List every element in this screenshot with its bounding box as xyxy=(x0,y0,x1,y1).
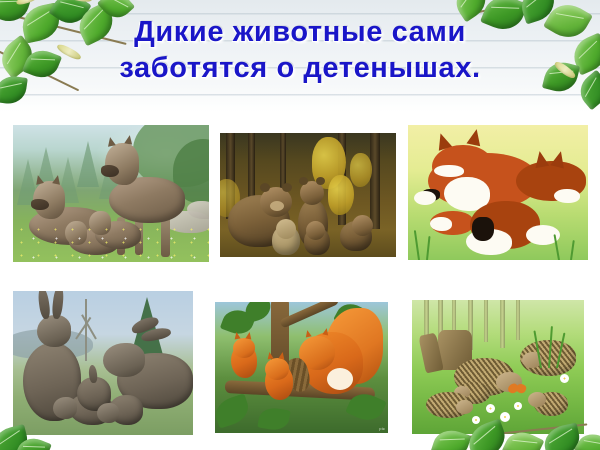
squirrel-ear xyxy=(278,352,285,360)
meadow-flowers xyxy=(13,223,209,262)
wolf-snout xyxy=(101,165,119,177)
tree-trunk xyxy=(516,300,520,340)
photo-content xyxy=(220,133,396,257)
squirrel-ear xyxy=(266,352,273,360)
fox-snout-white xyxy=(434,165,464,177)
squirrel-head xyxy=(233,338,255,358)
foliage-leaf xyxy=(257,406,290,433)
daisy-flower xyxy=(500,412,510,422)
wolf-ear xyxy=(106,136,116,146)
fox-paw xyxy=(472,217,494,241)
hare-head xyxy=(37,315,71,347)
birch-leaf-icon xyxy=(14,433,52,450)
grass-blade xyxy=(414,230,420,260)
photo-content: pic xyxy=(215,302,388,433)
header-background-band xyxy=(0,0,600,112)
photo-content xyxy=(13,125,209,262)
squirrel-ear xyxy=(304,329,311,337)
wolf-ear xyxy=(124,134,133,144)
fox-ear xyxy=(533,150,550,168)
bear-family-photo[interactable] xyxy=(220,133,396,257)
fox-cub-white xyxy=(430,217,452,231)
bear-muzzle xyxy=(270,201,284,211)
slide-canvas: Дикие животные сами заботятся о детеныша… xyxy=(0,0,600,450)
fox-cub xyxy=(554,189,580,203)
squirrel-head xyxy=(265,358,289,380)
conifer-tree xyxy=(77,141,99,187)
bear-head xyxy=(306,221,325,240)
photo-content xyxy=(408,125,588,260)
hare-head xyxy=(53,397,77,419)
wolf-head xyxy=(105,143,139,185)
squirrel-belly xyxy=(327,368,353,390)
fox-ear xyxy=(466,128,483,147)
hedgehog-family-photo[interactable] xyxy=(412,300,584,434)
butterfly-icon xyxy=(515,382,528,394)
squirrel-ear xyxy=(233,332,240,340)
bear-head xyxy=(276,219,296,239)
hare-ear xyxy=(51,291,64,319)
photo-content xyxy=(13,291,193,435)
grass-blade xyxy=(426,236,430,260)
hare-family-photo[interactable] xyxy=(13,291,193,435)
fox-tail-tip xyxy=(414,191,436,205)
photo-content xyxy=(412,300,584,434)
squirrel-family-photo[interactable]: pic xyxy=(215,302,388,433)
squirrel-ear xyxy=(245,332,252,340)
wolf-snout xyxy=(31,199,49,210)
bear-ear xyxy=(299,177,308,185)
hedgehog-face xyxy=(528,392,546,407)
daisy-flower xyxy=(560,374,569,383)
image-watermark: pic xyxy=(379,426,385,431)
tree-trunk xyxy=(500,300,505,348)
bear-ear xyxy=(282,183,292,192)
tree-trunk xyxy=(484,300,488,342)
hare-head xyxy=(103,343,145,377)
bear-head xyxy=(352,215,373,236)
autumn-foliage xyxy=(350,153,372,187)
hare-head xyxy=(97,403,119,423)
foliage-leaf xyxy=(215,393,252,428)
hare-ear xyxy=(88,365,98,384)
daisy-flower xyxy=(486,404,495,413)
grass-blade xyxy=(570,240,575,260)
daisy-flower xyxy=(514,402,522,410)
bare-tree xyxy=(85,299,87,361)
tree-trunk xyxy=(370,133,380,229)
hedgehog-face xyxy=(456,400,473,414)
fox-family-photo[interactable] xyxy=(408,125,588,260)
bear-ear xyxy=(260,183,270,192)
daisy-flower xyxy=(472,416,480,424)
wolf-family-photo[interactable] xyxy=(13,125,209,262)
bear-ear xyxy=(316,177,325,185)
hare-ear xyxy=(37,291,51,320)
foliage-leaf xyxy=(242,302,273,323)
autumn-foliage xyxy=(328,175,354,215)
